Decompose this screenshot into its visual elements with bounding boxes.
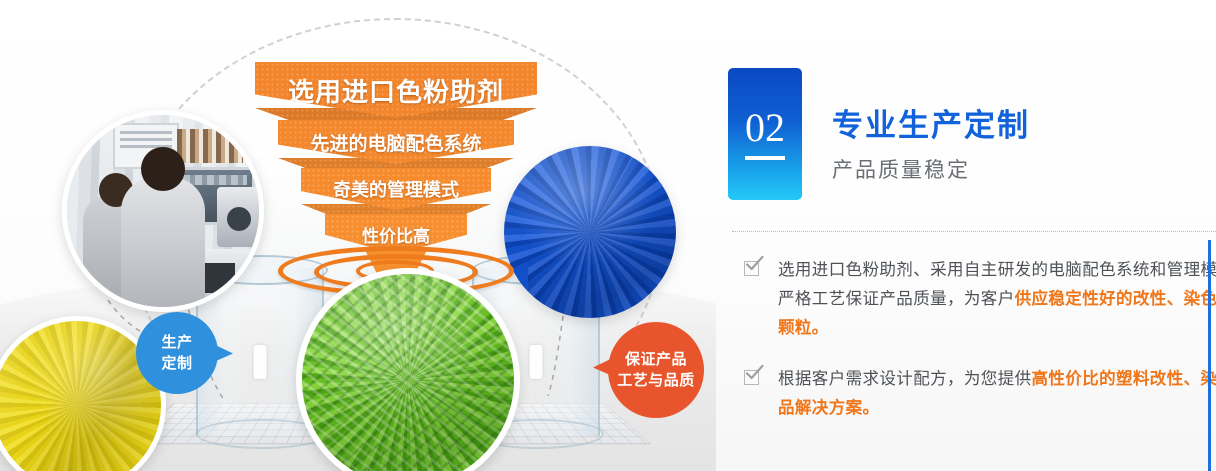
right-edge-accent [1208,240,1211,471]
body-text: 严格工艺保证产品质量，为客户 [778,290,1015,308]
section-heading-group: 专业生产定制 产品质量稳定 [832,100,1030,184]
page-title: 专业生产定制 [832,100,1030,145]
list-item-line: 选用进口色粉助剂、采用自主研发的电脑配色系统和管理模式， [778,256,1216,285]
checkbox-check-icon [744,261,759,276]
photo-coil-rack [177,129,243,163]
section-number-badge: 02 [728,68,802,200]
process-funnel: 选用进口色粉助剂 先进的电脑配色系统 奇美的管理模式 性价比高 [246,62,546,258]
badge-line-1: 保证产品 [625,349,687,370]
highlighted-text: 颗粒。 [778,319,829,337]
green-plastic-pellets [296,268,520,471]
funnel-level-3: 奇美的管理模式 [301,168,491,210]
divider [732,231,1216,232]
badge-quality-assurance: 保证产品 工艺与品质 [608,322,704,418]
check-mark-icon [745,365,764,381]
list-item: 根据客户需求设计配方，为您提供高性价比的塑料改性、染色产品解决方案。 [730,365,1216,423]
badge-line-2: 工艺与品质 [617,370,695,391]
badge-line-2: 定制 [161,353,192,374]
body-text: 根据客户需求设计配方，为您提供 [778,370,1032,388]
highlighted-text: 供应稳定性好的改性、染色塑料 [1015,290,1216,308]
checkbox-check-icon [744,370,759,385]
cylinder-handle [530,345,543,379]
feature-list: 选用进口色粉助剂、采用自主研发的电脑配色系统和管理模式，严格工艺保证产品质量，为… [730,256,1216,444]
badge-production-custom: 生产 定制 [136,312,218,394]
list-item-line: 品解决方案。 [778,394,1216,423]
funnel-level-2: 先进的电脑配色系统 [278,120,514,164]
lab-workstation-photo [62,110,264,312]
section-number: 02 [745,108,785,160]
badge-line-1: 生产 [161,332,192,353]
highlighted-text: 高性价比的塑料改性、染色产 [1032,370,1216,388]
promo-banner: 选用进口色粉助剂 先进的电脑配色系统 奇美的管理模式 性价比高 生产 定制 [0,0,1216,471]
content-panel: 02 专业生产定制 产品质量稳定 选用进口色粉助剂、采用自主研发的电脑配色系统和… [716,0,1216,471]
check-mark-icon [745,256,764,272]
list-item-line: 颗粒。 [778,314,1216,343]
body-text: 选用进口色粉助剂、采用自主研发的电脑配色系统和管理模式， [778,261,1216,279]
illustration-panel: 选用进口色粉助剂 先进的电脑配色系统 奇美的管理模式 性价比高 生产 定制 [0,0,716,471]
photo-worker-front [121,177,205,307]
pellet-shading [302,274,514,471]
page-subtitle: 产品质量稳定 [832,154,1030,184]
cylinder-handle [254,345,267,379]
highlighted-text: 品解决方案。 [778,399,879,417]
list-item-line: 根据客户需求设计配方，为您提供高性价比的塑料改性、染色产 [778,365,1216,394]
list-item-line: 严格工艺保证产品质量，为客户供应稳定性好的改性、染色塑料 [778,285,1216,314]
list-item: 选用进口色粉助剂、采用自主研发的电脑配色系统和管理模式，严格工艺保证产品质量，为… [730,256,1216,343]
